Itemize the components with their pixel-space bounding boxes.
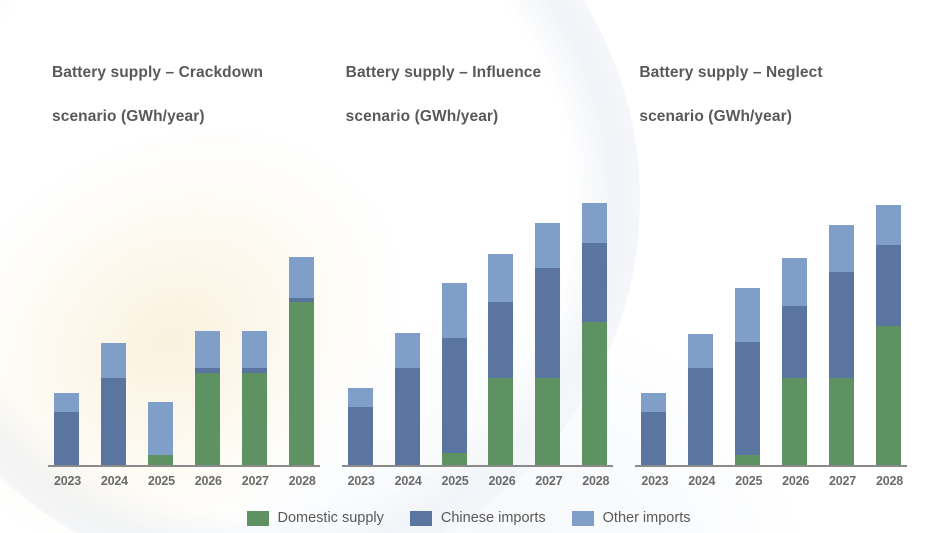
x-axis-line bbox=[342, 465, 614, 467]
segment-domestic-supply[interactable] bbox=[242, 373, 267, 467]
segment-other-imports[interactable] bbox=[101, 343, 126, 378]
bar-2028[interactable] bbox=[289, 257, 314, 467]
bar-2026[interactable] bbox=[782, 258, 807, 467]
panel-title-neglect: Battery supply – Neglect scenario (GWh/y… bbox=[639, 40, 907, 128]
bar-2027[interactable] bbox=[535, 223, 560, 467]
x-axis-line bbox=[635, 465, 907, 467]
chart-panels-row: Battery supply – Crackdown scenario (GWh… bbox=[0, 0, 937, 488]
legend-label: Domestic supply bbox=[278, 510, 384, 526]
plot-area-crackdown bbox=[48, 142, 320, 467]
segment-chinese-imports[interactable] bbox=[735, 342, 760, 455]
panel-title-influence: Battery supply – Influence scenario (GWh… bbox=[346, 40, 614, 128]
segment-chinese-imports[interactable] bbox=[641, 412, 666, 467]
segment-other-imports[interactable] bbox=[54, 393, 79, 413]
segment-chinese-imports[interactable] bbox=[782, 306, 807, 378]
legend-swatch-icon bbox=[247, 511, 269, 526]
segment-other-imports[interactable] bbox=[488, 254, 513, 302]
segment-domestic-supply[interactable] bbox=[535, 378, 560, 467]
bar-2026[interactable] bbox=[195, 331, 220, 467]
segment-other-imports[interactable] bbox=[782, 258, 807, 306]
bar-2028[interactable] bbox=[582, 203, 607, 467]
segment-chinese-imports[interactable] bbox=[101, 378, 126, 467]
x-tick-labels: 202320242025202620272028 bbox=[342, 467, 614, 488]
x-tick-label-2028: 2028 bbox=[582, 474, 607, 488]
x-tick-label-2027: 2027 bbox=[829, 474, 854, 488]
segment-chinese-imports[interactable] bbox=[688, 368, 713, 467]
legend-item-1[interactable]: Chinese imports bbox=[410, 510, 546, 526]
x-tick-label-2027: 2027 bbox=[535, 474, 560, 488]
x-tick-label-2026: 2026 bbox=[195, 474, 220, 488]
chart-panel-crackdown: Battery supply – Crackdown scenario (GWh… bbox=[48, 40, 320, 488]
chart-legend: Domestic supplyChinese importsOther impo… bbox=[0, 510, 937, 526]
x-tick-label-2024: 2024 bbox=[688, 474, 713, 488]
segment-other-imports[interactable] bbox=[876, 205, 901, 245]
segment-chinese-imports[interactable] bbox=[582, 243, 607, 322]
bar-2025[interactable] bbox=[442, 283, 467, 467]
segment-chinese-imports[interactable] bbox=[395, 368, 420, 467]
segment-domestic-supply[interactable] bbox=[829, 378, 854, 467]
x-tick-label-2023: 2023 bbox=[641, 474, 666, 488]
segment-domestic-supply[interactable] bbox=[289, 302, 314, 467]
segment-domestic-supply[interactable] bbox=[488, 378, 513, 467]
x-tick-label-2025: 2025 bbox=[442, 474, 467, 488]
bar-2027[interactable] bbox=[242, 331, 267, 467]
panel-title-line2: scenario (GWh/year) bbox=[52, 108, 205, 125]
segment-other-imports[interactable] bbox=[829, 225, 854, 273]
plot-area-neglect bbox=[635, 142, 907, 467]
x-tick-label-2024: 2024 bbox=[101, 474, 126, 488]
bar-2024[interactable] bbox=[688, 334, 713, 467]
x-axis-line bbox=[48, 465, 320, 467]
bar-2023[interactable] bbox=[348, 388, 373, 467]
segment-domestic-supply[interactable] bbox=[876, 326, 901, 467]
x-tick-label-2025: 2025 bbox=[148, 474, 173, 488]
bar-2024[interactable] bbox=[395, 333, 420, 467]
x-tick-label-2026: 2026 bbox=[782, 474, 807, 488]
legend-swatch-icon bbox=[410, 511, 432, 526]
legend-swatch-icon bbox=[572, 511, 594, 526]
bar-2028[interactable] bbox=[876, 205, 901, 467]
bars-container bbox=[342, 169, 614, 467]
segment-chinese-imports[interactable] bbox=[54, 412, 79, 467]
chart-panel-influence: Battery supply – Influence scenario (GWh… bbox=[342, 40, 614, 488]
segment-other-imports[interactable] bbox=[688, 334, 713, 368]
segment-other-imports[interactable] bbox=[242, 331, 267, 368]
segment-domestic-supply[interactable] bbox=[582, 322, 607, 467]
chart-figure: Battery supply – Crackdown scenario (GWh… bbox=[0, 0, 937, 526]
x-tick-label-2024: 2024 bbox=[395, 474, 420, 488]
segment-other-imports[interactable] bbox=[395, 333, 420, 368]
bar-2023[interactable] bbox=[641, 393, 666, 467]
segment-domestic-supply[interactable] bbox=[782, 378, 807, 467]
segment-other-imports[interactable] bbox=[582, 203, 607, 243]
panel-title-line2: scenario (GWh/year) bbox=[639, 108, 792, 125]
segment-other-imports[interactable] bbox=[348, 388, 373, 408]
segment-chinese-imports[interactable] bbox=[829, 272, 854, 377]
x-tick-labels: 202320242025202620272028 bbox=[48, 467, 320, 488]
segment-other-imports[interactable] bbox=[641, 393, 666, 413]
x-tick-labels: 202320242025202620272028 bbox=[635, 467, 907, 488]
bar-2025[interactable] bbox=[735, 288, 760, 467]
segment-chinese-imports[interactable] bbox=[488, 302, 513, 377]
segment-other-imports[interactable] bbox=[195, 331, 220, 368]
bar-2023[interactable] bbox=[54, 393, 79, 467]
legend-item-2[interactable]: Other imports bbox=[572, 510, 691, 526]
segment-other-imports[interactable] bbox=[148, 402, 173, 455]
panel-title-line2: scenario (GWh/year) bbox=[346, 108, 499, 125]
x-tick-label-2023: 2023 bbox=[348, 474, 373, 488]
panel-title-line1: Battery supply – Crackdown bbox=[52, 64, 263, 81]
chart-panel-neglect: Battery supply – Neglect scenario (GWh/y… bbox=[635, 40, 907, 488]
panel-title-line1: Battery supply – Neglect bbox=[639, 64, 822, 81]
panel-title-line1: Battery supply – Influence bbox=[346, 64, 542, 81]
bar-2026[interactable] bbox=[488, 254, 513, 467]
segment-chinese-imports[interactable] bbox=[876, 245, 901, 326]
legend-label: Chinese imports bbox=[441, 510, 546, 526]
segment-chinese-imports[interactable] bbox=[348, 407, 373, 467]
bar-2024[interactable] bbox=[101, 343, 126, 467]
legend-item-0[interactable]: Domestic supply bbox=[247, 510, 384, 526]
x-tick-label-2023: 2023 bbox=[54, 474, 79, 488]
segment-other-imports[interactable] bbox=[735, 288, 760, 342]
segment-other-imports[interactable] bbox=[289, 257, 314, 298]
panel-title-crackdown: Battery supply – Crackdown scenario (GWh… bbox=[52, 40, 320, 128]
x-tick-label-2027: 2027 bbox=[242, 474, 267, 488]
bars-container bbox=[48, 169, 320, 467]
x-tick-label-2028: 2028 bbox=[289, 474, 314, 488]
bars-container bbox=[635, 169, 907, 467]
segment-other-imports[interactable] bbox=[442, 283, 467, 338]
bar-2025[interactable] bbox=[148, 402, 173, 467]
x-tick-label-2026: 2026 bbox=[488, 474, 513, 488]
legend-label: Other imports bbox=[603, 510, 691, 526]
segment-chinese-imports[interactable] bbox=[442, 338, 467, 453]
plot-area-influence bbox=[342, 142, 614, 467]
segment-chinese-imports[interactable] bbox=[535, 268, 560, 377]
x-tick-label-2028: 2028 bbox=[876, 474, 901, 488]
segment-domestic-supply[interactable] bbox=[195, 373, 220, 467]
x-tick-label-2025: 2025 bbox=[735, 474, 760, 488]
segment-other-imports[interactable] bbox=[535, 223, 560, 269]
bar-2027[interactable] bbox=[829, 225, 854, 467]
